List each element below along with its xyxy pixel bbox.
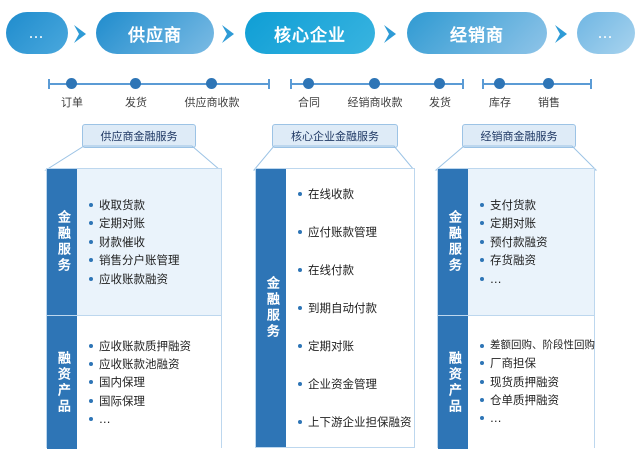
list-item: 差额回购、阶段性回购 xyxy=(478,337,595,354)
list-item: 应收账款融资 xyxy=(87,270,217,288)
list-item: 在线付款 xyxy=(296,261,412,279)
list-item: 预付款融资 xyxy=(478,233,590,251)
supplier-financial-services-items: 收取货款 定期对账 财款催收 销售分户账管理 应收账款融资 xyxy=(77,169,221,315)
distributor-financial-services-block: 金融服务 支付货款 定期对账 预付款融资 存货融资 … xyxy=(438,169,594,315)
list-item: 企业资金管理 xyxy=(296,375,412,393)
tag-label: 核心企业金融服务 xyxy=(291,128,379,144)
chain-node-supplier: 供应商 xyxy=(96,12,214,54)
distributor-financing-products-items: 差额回购、阶段性回购 厂商担保 现货质押融资 仓单质押融资 … xyxy=(468,316,599,449)
list-item: 现货质押融资 xyxy=(478,373,595,391)
distributor-timeline-start-cap xyxy=(482,79,484,89)
chevron-right-icon xyxy=(553,24,573,44)
supplier-financial-services-block: 金融服务 收取货款 定期对账 财款催收 销售分户账管理 应收账款融资 xyxy=(47,169,221,315)
timeline-dot xyxy=(303,78,314,89)
chain-node-label: 核心企业 xyxy=(274,21,346,46)
supply-chain-finance-diagram: … 供应商 核心企业 经销商 … xyxy=(0,0,640,457)
list-item: 收取货款 xyxy=(87,196,217,214)
chevron-right-icon xyxy=(72,24,92,44)
timeline-label: 库存 xyxy=(489,94,511,110)
core-financial-services-items: 在线收款 应付账款管理 在线付款 到期自动付款 定期对账 企业资金管理 上下游企… xyxy=(286,169,416,447)
list-item: 应收账款质押融资 xyxy=(87,337,217,355)
chain-node-label: 经销商 xyxy=(450,21,504,46)
distributor-panel: 金融服务 支付货款 定期对账 预付款融资 存货融资 … 融资产品 差额回购、阶段… xyxy=(437,168,595,448)
timeline-dot xyxy=(369,78,380,89)
supplier-timeline-axis xyxy=(48,83,270,85)
chain-node-label: … xyxy=(598,24,615,42)
timeline-dot xyxy=(494,78,505,89)
distributor-financing-products-block: 融资产品 差额回购、阶段性回购 厂商担保 现货质押融资 仓单质押融资 … xyxy=(438,316,594,449)
supplier-financial-services-title: 金融服务 xyxy=(47,169,77,315)
tag-label: 经销商金融服务 xyxy=(481,128,558,144)
list-item: 定期对账 xyxy=(296,337,412,355)
chain-node-label: 供应商 xyxy=(128,21,182,46)
supplier-timeline-end-cap xyxy=(268,79,270,89)
timeline-dot xyxy=(543,78,554,89)
chain-node-label: … xyxy=(29,24,46,42)
timeline-label: 发货 xyxy=(429,94,451,110)
process-timeline-row: 订单 发货 供应商收款 合同 经销商收款 发货 库存 销售 xyxy=(0,70,640,112)
timeline-label: 供应商收款 xyxy=(185,94,240,110)
distributor-financial-services-items: 支付货款 定期对账 预付款融资 存货融资 … xyxy=(468,169,594,315)
chain-node-ellipsis-start: … xyxy=(6,12,68,54)
supplier-financing-products-title: 融资产品 xyxy=(47,316,77,449)
list-item: 上下游企业担保融资 xyxy=(296,413,412,431)
chain-node-ellipsis-end: … xyxy=(577,12,635,54)
supplier-panel: 金融服务 收取货款 定期对账 财款催收 销售分户账管理 应收账款融资 融资产品 … xyxy=(46,168,222,448)
chevron-right-icon xyxy=(382,24,402,44)
distributor-financing-products-title: 融资产品 xyxy=(438,316,468,449)
list-item: 国内保理 xyxy=(87,373,217,391)
timeline-dot xyxy=(434,78,445,89)
chain-node-core-enterprise: 核心企业 xyxy=(245,12,375,54)
core-timeline-end-cap xyxy=(462,79,464,89)
list-item: 定期对账 xyxy=(87,214,217,232)
supplier-financing-products-block: 融资产品 应收账款质押融资 应收账款池融资 国内保理 国际保理 … xyxy=(47,316,221,449)
list-item: 定期对账 xyxy=(478,214,590,232)
list-item: 应付账款管理 xyxy=(296,223,412,241)
chain-node-distributor: 经销商 xyxy=(407,12,547,54)
value-chain-row: … 供应商 核心企业 经销商 … xyxy=(0,6,640,60)
timeline-label: 合同 xyxy=(298,94,320,110)
timeline-label: 发货 xyxy=(125,94,147,110)
list-item: 仓单质押融资 xyxy=(478,391,595,409)
list-item: 到期自动付款 xyxy=(296,299,412,317)
list-item: 应收账款池融资 xyxy=(87,355,217,373)
list-item: 在线收款 xyxy=(296,185,412,203)
list-item: … xyxy=(478,409,595,427)
timeline-dot xyxy=(206,78,217,89)
list-item: … xyxy=(87,410,217,428)
supplier-financing-products-items: 应收账款质押融资 应收账款池融资 国内保理 国际保理 … xyxy=(77,316,221,449)
core-panel: 金融服务 在线收款 应付账款管理 在线付款 到期自动付款 定期对账 企业资金管理… xyxy=(255,168,415,448)
list-item: 财款催收 xyxy=(87,233,217,251)
tag-label: 供应商金融服务 xyxy=(101,128,178,144)
timeline-label: 经销商收款 xyxy=(348,94,403,110)
list-item: 销售分户账管理 xyxy=(87,251,217,269)
supplier-timeline-start-cap xyxy=(48,79,50,89)
core-financial-services-block: 金融服务 在线收款 应付账款管理 在线付款 到期自动付款 定期对账 企业资金管理… xyxy=(256,169,414,447)
list-item: … xyxy=(478,270,590,288)
distributor-financial-services-title: 金融服务 xyxy=(438,169,468,315)
core-financial-services-title: 金融服务 xyxy=(256,169,286,447)
timeline-label: 订单 xyxy=(61,94,83,110)
timeline-dot xyxy=(130,78,141,89)
timeline-dot xyxy=(66,78,77,89)
chevron-right-icon xyxy=(220,24,240,44)
list-item: 存货融资 xyxy=(478,251,590,269)
distributor-timeline-end-cap xyxy=(590,79,592,89)
core-timeline-start-cap xyxy=(290,79,292,89)
list-item: 厂商担保 xyxy=(478,354,595,372)
timeline-label: 销售 xyxy=(538,94,560,110)
list-item: 国际保理 xyxy=(87,392,217,410)
list-item: 支付货款 xyxy=(478,196,590,214)
